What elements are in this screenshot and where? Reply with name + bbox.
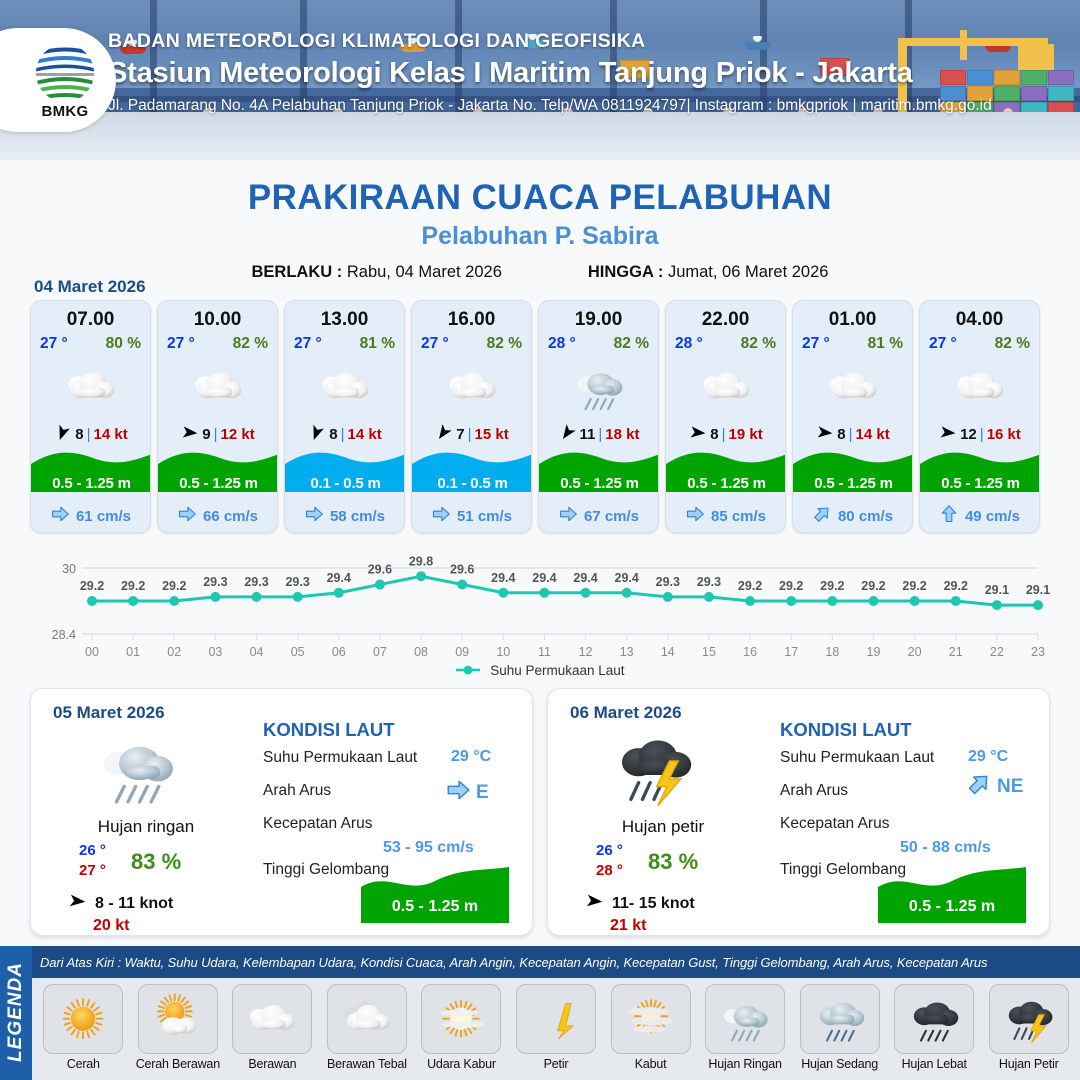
chart-legend-marker-icon bbox=[455, 664, 481, 679]
card-wave-height: 0.5 - 1.25 m bbox=[666, 475, 786, 492]
card-air-temperature: 28 ° bbox=[548, 335, 576, 353]
legend-item-icon bbox=[800, 984, 880, 1054]
card-air-temperature: 27 ° bbox=[421, 335, 449, 353]
wind-separator: | bbox=[980, 426, 984, 443]
panel-current-dir-value: NE bbox=[997, 776, 1023, 798]
card-wind-row: 7 | 15 kt bbox=[412, 418, 531, 450]
svg-text:20: 20 bbox=[908, 645, 922, 659]
header-text-block: BADAN METEOROLOGI KLIMATOLOGI DAN GEOFIS… bbox=[108, 30, 1068, 115]
bmkg-logo-text: BMKG bbox=[26, 103, 104, 120]
page-title: PRAKIRAAN CUACA PELABUHAN bbox=[0, 178, 1080, 218]
card-temp-humidity-row: 28 ° 82 % bbox=[539, 331, 658, 353]
panel-weather-icon bbox=[91, 725, 183, 815]
card-current-row: 51 cm/s bbox=[412, 500, 531, 532]
legend-item-icon bbox=[705, 984, 785, 1054]
legend-item: Petir bbox=[511, 984, 602, 1071]
legend-item-icon bbox=[421, 984, 501, 1054]
panel-sst-label: Suhu Permukaan Laut bbox=[780, 749, 934, 767]
card-wave-band: 0.5 - 1.25 m bbox=[666, 448, 785, 500]
forecast-card: 13.00 27 ° 81 % 8 | 14 kt bbox=[284, 300, 405, 533]
legend-item-label: Hujan Sedang bbox=[794, 1057, 885, 1071]
wave-shape-icon bbox=[285, 448, 405, 500]
card-air-temperature: 27 ° bbox=[40, 335, 68, 353]
wave-shape-icon bbox=[666, 448, 786, 500]
card-temp-humidity-row: 27 ° 81 % bbox=[793, 331, 912, 353]
card-current-speed: 61 cm/s bbox=[76, 508, 131, 525]
svg-text:29.6: 29.6 bbox=[450, 563, 474, 577]
card-gust-speed: 12 kt bbox=[221, 426, 255, 443]
legend-item-icon bbox=[611, 984, 691, 1054]
wind-direction-arrow-icon bbox=[307, 423, 326, 446]
card-current-speed: 85 cm/s bbox=[711, 508, 766, 525]
valid-until: HINGGA : Jumat, 06 Maret 2026 bbox=[588, 263, 829, 282]
panel-wave-band: 0.5 - 1.25 m bbox=[361, 865, 509, 927]
panel-condition: Hujan petir bbox=[548, 817, 778, 837]
station-name: Stasiun Meteorologi Kelas I Maritim Tanj… bbox=[108, 57, 1068, 90]
legend-item: Udara Kabur bbox=[416, 984, 507, 1071]
card-current-speed: 58 cm/s bbox=[330, 508, 385, 525]
panel-current-dir-value: E bbox=[476, 782, 489, 804]
svg-text:22: 22 bbox=[990, 645, 1004, 659]
card-wave-height: 0.5 - 1.25 m bbox=[31, 475, 151, 492]
card-wind-row: 12 | 16 kt bbox=[920, 418, 1039, 450]
svg-text:13: 13 bbox=[620, 645, 634, 659]
valid-until-value: Jumat, 06 Maret 2026 bbox=[668, 263, 829, 281]
svg-text:30: 30 bbox=[62, 562, 76, 576]
legend-item-label: Udara Kabur bbox=[416, 1057, 507, 1071]
svg-text:28.4: 28.4 bbox=[52, 628, 76, 642]
card-wind-speed: 7 bbox=[456, 426, 464, 443]
card-weather-icon bbox=[920, 356, 1039, 418]
forecast-day-label: 04 Maret 2026 bbox=[34, 277, 146, 297]
svg-text:29.2: 29.2 bbox=[121, 579, 145, 593]
svg-text:15: 15 bbox=[702, 645, 716, 659]
wind-direction-arrow-icon bbox=[688, 423, 707, 446]
title-block: PRAKIRAAN CUACA PELABUHAN Pelabuhan P. S… bbox=[0, 178, 1080, 282]
panel-humidity: 83 % bbox=[131, 849, 181, 875]
panel-gust-speed: 20 kt bbox=[93, 917, 129, 935]
svg-text:06: 06 bbox=[332, 645, 346, 659]
svg-text:29.3: 29.3 bbox=[203, 575, 227, 589]
wind-direction-arrow-icon bbox=[180, 423, 199, 446]
agency-name: BADAN METEOROLOGI KLIMATOLOGI DAN GEOFIS… bbox=[108, 30, 1068, 53]
card-time: 16.00 bbox=[412, 301, 531, 331]
panel-wave-shape-icon bbox=[361, 865, 509, 927]
current-direction-arrow-icon bbox=[558, 504, 578, 528]
svg-text:11: 11 bbox=[538, 645, 551, 659]
svg-text:29.2: 29.2 bbox=[944, 579, 968, 593]
panel-sst-value: 29 °C bbox=[451, 748, 491, 766]
svg-text:29.2: 29.2 bbox=[820, 579, 844, 593]
panel-temp-min: 26 ° bbox=[79, 841, 106, 861]
panel-wind-row: 8 - 11 knot bbox=[67, 891, 173, 916]
svg-text:01: 01 bbox=[126, 645, 140, 659]
card-wave-height: 0.5 - 1.25 m bbox=[793, 475, 913, 492]
forecast-card: 07.00 27 ° 80 % 8 | 14 kt bbox=[30, 300, 151, 533]
legend-item: Hujan Ringan bbox=[700, 984, 791, 1071]
card-humidity: 81 % bbox=[868, 335, 903, 353]
current-direction-arrow-icon bbox=[812, 504, 832, 528]
card-wind-speed: 8 bbox=[710, 426, 718, 443]
panel-wave-band: 0.5 - 1.25 m bbox=[878, 865, 1026, 927]
card-wave-height: 0.5 - 1.25 m bbox=[158, 475, 278, 492]
station-address: Jl. Padamarang No. 4A Pelabuhan Tanjung … bbox=[108, 97, 1068, 115]
forecast-card: 04.00 27 ° 82 % 12 | 16 kt bbox=[919, 300, 1040, 533]
current-direction-arrow-icon bbox=[685, 504, 705, 528]
valid-from-label: BERLAKU : bbox=[252, 263, 343, 281]
card-current-row: 61 cm/s bbox=[31, 500, 150, 532]
legend-item-icon bbox=[516, 984, 596, 1054]
card-current-row: 67 cm/s bbox=[539, 500, 658, 532]
current-direction-arrow-icon bbox=[939, 504, 959, 528]
panel-wind-speed: 8 - 11 knot bbox=[95, 895, 173, 913]
svg-text:23: 23 bbox=[1031, 645, 1045, 659]
panel-wave-value: 0.5 - 1.25 m bbox=[361, 898, 509, 916]
card-temp-humidity-row: 28 ° 82 % bbox=[666, 331, 785, 353]
card-wave-band: 0.5 - 1.25 m bbox=[158, 448, 277, 500]
panel-current-direction-arrow-icon bbox=[445, 777, 471, 808]
svg-text:18: 18 bbox=[825, 645, 839, 659]
legend-item: Cerah Berawan bbox=[133, 984, 224, 1071]
svg-text:09: 09 bbox=[455, 645, 469, 659]
wind-separator: | bbox=[468, 426, 472, 443]
legend-section: LEGENDA Dari Atas Kiri : Waktu, Suhu Uda… bbox=[0, 946, 1080, 1080]
panel-humidity: 83 % bbox=[648, 849, 698, 875]
svg-text:05: 05 bbox=[291, 645, 305, 659]
legend-item: Hujan Sedang bbox=[794, 984, 885, 1071]
card-temp-humidity-row: 27 ° 82 % bbox=[158, 331, 277, 353]
chart-legend-label: Suhu Permukaan Laut bbox=[490, 663, 624, 678]
panel-wind-direction-arrow-icon bbox=[584, 891, 604, 916]
panel-temperature-range: 26 ° 27 ° bbox=[79, 841, 106, 882]
wind-direction-arrow-icon bbox=[53, 423, 72, 446]
svg-text:21: 21 bbox=[949, 645, 963, 659]
legend-item-label: Cerah Berawan bbox=[133, 1057, 224, 1071]
forecast-card: 16.00 27 ° 82 % 7 | 15 kt bbox=[411, 300, 532, 533]
card-current-row: 58 cm/s bbox=[285, 500, 404, 532]
forecast-card: 10.00 27 ° 82 % 9 | 12 kt bbox=[157, 300, 278, 533]
panel-current-dir-value-group: E bbox=[445, 777, 489, 808]
svg-text:29.6: 29.6 bbox=[368, 563, 392, 577]
card-time: 22.00 bbox=[666, 301, 785, 331]
panel-current-dir-label: Arah Arus bbox=[263, 782, 331, 800]
card-weather-icon bbox=[666, 356, 785, 418]
legend-item-label: Hujan Lebat bbox=[889, 1057, 980, 1071]
legend-item-label: Berawan bbox=[227, 1057, 318, 1071]
page-header: BMKG BADAN METEOROLOGI KLIMATOLOGI DAN G… bbox=[0, 0, 1080, 160]
card-wind-speed: 12 bbox=[960, 426, 977, 443]
card-wind-row: 8 | 14 kt bbox=[31, 418, 150, 450]
page-subtitle: Pelabuhan P. Sabira bbox=[0, 222, 1080, 251]
svg-text:16: 16 bbox=[743, 645, 757, 659]
wind-separator: | bbox=[722, 426, 726, 443]
panel-current-direction-arrow-icon bbox=[966, 771, 992, 802]
wave-shape-icon bbox=[31, 448, 151, 500]
card-humidity: 81 % bbox=[360, 335, 395, 353]
forecast-card-list: 07.00 27 ° 80 % 8 | 14 kt bbox=[30, 300, 1050, 533]
card-air-temperature: 27 ° bbox=[167, 335, 195, 353]
wind-direction-arrow-icon bbox=[434, 423, 453, 446]
card-temp-humidity-row: 27 ° 81 % bbox=[285, 331, 404, 353]
panel-date: 06 Maret 2026 bbox=[570, 703, 682, 723]
card-time: 07.00 bbox=[31, 301, 150, 331]
legend-item-label: Berawan Tebal bbox=[322, 1057, 413, 1071]
panel-sea-title: KONDISI LAUT bbox=[780, 719, 912, 741]
daily-forecast-panel: 06 Maret 2026 Hujan petir 26 ° 28 ° 83 %… bbox=[547, 688, 1050, 936]
legend-item-icon bbox=[327, 984, 407, 1054]
card-weather-icon bbox=[31, 356, 150, 418]
card-temp-humidity-row: 27 ° 82 % bbox=[920, 331, 1039, 353]
card-current-speed: 66 cm/s bbox=[203, 508, 258, 525]
legend-item-list: Cerah Cerah Berawan Berawan bbox=[38, 984, 1074, 1071]
card-wind-speed: 8 bbox=[75, 426, 83, 443]
legend-side-label: LEGENDA bbox=[5, 945, 27, 1079]
wind-separator: | bbox=[214, 426, 218, 443]
legend-item: Kabut bbox=[605, 984, 696, 1071]
card-wave-band: 0.5 - 1.25 m bbox=[793, 448, 912, 500]
legend-item: Berawan bbox=[227, 984, 318, 1071]
card-wind-row: 8 | 19 kt bbox=[666, 418, 785, 450]
bmkg-logo: BMKG bbox=[0, 28, 116, 132]
card-weather-icon bbox=[158, 356, 277, 418]
panel-temperature-range: 26 ° 28 ° bbox=[596, 841, 623, 882]
card-gust-speed: 14 kt bbox=[94, 426, 128, 443]
card-current-speed: 49 cm/s bbox=[965, 508, 1020, 525]
forecast-card: 19.00 28 ° 82 % 11 | 18 kt bbox=[538, 300, 659, 533]
card-time: 01.00 bbox=[793, 301, 912, 331]
card-temp-humidity-row: 27 ° 82 % bbox=[412, 331, 531, 353]
panel-current-speed-label: Kecepatan Arus bbox=[780, 815, 889, 833]
card-air-temperature: 27 ° bbox=[929, 335, 957, 353]
svg-text:00: 00 bbox=[85, 645, 99, 659]
card-gust-speed: 16 kt bbox=[987, 426, 1021, 443]
card-air-temperature: 28 ° bbox=[675, 335, 703, 353]
svg-text:02: 02 bbox=[167, 645, 181, 659]
forecast-card: 01.00 27 ° 81 % 8 | 14 kt bbox=[792, 300, 913, 533]
panel-current-speed-value: 53 - 95 cm/s bbox=[383, 839, 474, 857]
panel-current-speed-value: 50 - 88 cm/s bbox=[900, 839, 991, 857]
wave-shape-icon bbox=[412, 448, 532, 500]
card-wind-row: 9 | 12 kt bbox=[158, 418, 277, 450]
sst-chart-svg: 3028.40001020304050607080910111213141516… bbox=[30, 556, 1050, 666]
card-wave-height: 0.1 - 0.5 m bbox=[285, 475, 405, 492]
svg-text:19: 19 bbox=[867, 645, 881, 659]
wind-direction-arrow-icon bbox=[558, 423, 577, 446]
wave-shape-icon bbox=[920, 448, 1040, 500]
current-direction-arrow-icon bbox=[304, 504, 324, 528]
bmkg-logo-mark: BMKG bbox=[26, 40, 104, 120]
validity-row: BERLAKU : Rabu, 04 Maret 2026 HINGGA : J… bbox=[0, 263, 1080, 282]
wind-direction-arrow-icon bbox=[815, 423, 834, 446]
svg-text:29.2: 29.2 bbox=[80, 579, 104, 593]
svg-text:29.3: 29.3 bbox=[656, 575, 680, 589]
card-wind-speed: 9 bbox=[202, 426, 210, 443]
legend-item-icon bbox=[232, 984, 312, 1054]
wind-separator: | bbox=[87, 426, 91, 443]
panel-wave-shape-icon bbox=[878, 865, 1026, 927]
valid-from: BERLAKU : Rabu, 04 Maret 2026 bbox=[252, 263, 502, 282]
panel-wind-row: 11- 15 knot bbox=[584, 891, 695, 916]
card-current-row: 66 cm/s bbox=[158, 500, 277, 532]
legend-item-label: Petir bbox=[511, 1057, 602, 1071]
legend-item-icon bbox=[43, 984, 123, 1054]
panel-current-dir-value-group: NE bbox=[966, 771, 1023, 802]
svg-text:29.4: 29.4 bbox=[615, 571, 639, 585]
card-wind-row: 8 | 14 kt bbox=[285, 418, 404, 450]
svg-text:17: 17 bbox=[784, 645, 798, 659]
wind-separator: | bbox=[341, 426, 345, 443]
panel-temp-max: 28 ° bbox=[596, 861, 623, 881]
svg-text:14: 14 bbox=[661, 645, 675, 659]
legend-side-bar: LEGENDA bbox=[0, 946, 32, 1080]
card-wind-speed: 8 bbox=[837, 426, 845, 443]
svg-text:29.3: 29.3 bbox=[244, 575, 268, 589]
wave-shape-icon bbox=[539, 448, 659, 500]
panel-sst-value: 29 °C bbox=[968, 748, 1008, 766]
card-wave-band: 0.5 - 1.25 m bbox=[31, 448, 150, 500]
svg-text:03: 03 bbox=[208, 645, 222, 659]
card-humidity: 82 % bbox=[487, 335, 522, 353]
wind-direction-arrow-icon bbox=[938, 423, 957, 446]
svg-text:07: 07 bbox=[373, 645, 387, 659]
card-humidity: 82 % bbox=[233, 335, 268, 353]
legend-item: Cerah bbox=[38, 984, 129, 1071]
card-wave-height: 0.5 - 1.25 m bbox=[920, 475, 1040, 492]
header-terminal-floor bbox=[0, 112, 1080, 160]
card-humidity: 82 % bbox=[995, 335, 1030, 353]
card-weather-icon bbox=[412, 356, 531, 418]
wave-shape-icon bbox=[158, 448, 278, 500]
legend-item-icon bbox=[894, 984, 974, 1054]
wave-shape-icon bbox=[793, 448, 913, 500]
card-weather-icon bbox=[793, 356, 912, 418]
svg-text:29.1: 29.1 bbox=[1026, 583, 1050, 597]
legend-item-label: Hujan Ringan bbox=[700, 1057, 791, 1071]
legend-item: Berawan Tebal bbox=[322, 984, 413, 1071]
card-current-speed: 80 cm/s bbox=[838, 508, 893, 525]
card-wave-band: 0.5 - 1.25 m bbox=[539, 448, 658, 500]
card-current-speed: 51 cm/s bbox=[457, 508, 512, 525]
card-gust-speed: 18 kt bbox=[605, 426, 639, 443]
sst-chart: 3028.40001020304050607080910111213141516… bbox=[30, 556, 1050, 666]
card-gust-speed: 14 kt bbox=[348, 426, 382, 443]
panel-current-dir-label: Arah Arus bbox=[780, 782, 848, 800]
wind-separator: | bbox=[849, 426, 853, 443]
infographic-page: BMKG BADAN METEOROLOGI KLIMATOLOGI DAN G… bbox=[0, 0, 1080, 1080]
card-wind-row: 11 | 18 kt bbox=[539, 418, 658, 450]
legend-item-label: Hujan Petir bbox=[983, 1057, 1074, 1071]
legend-item: Hujan Petir bbox=[983, 984, 1074, 1071]
card-time: 04.00 bbox=[920, 301, 1039, 331]
card-wind-speed: 8 bbox=[329, 426, 337, 443]
card-air-temperature: 27 ° bbox=[294, 335, 322, 353]
wind-separator: | bbox=[598, 426, 602, 443]
panel-weather-icon bbox=[608, 725, 700, 815]
card-gust-speed: 15 kt bbox=[475, 426, 509, 443]
panel-temp-min: 26 ° bbox=[596, 841, 623, 861]
svg-text:29.2: 29.2 bbox=[902, 579, 926, 593]
svg-text:29.2: 29.2 bbox=[779, 579, 803, 593]
card-wave-band: 0.1 - 0.5 m bbox=[412, 448, 531, 500]
card-humidity: 82 % bbox=[741, 335, 776, 353]
svg-text:29.2: 29.2 bbox=[162, 579, 186, 593]
card-wave-height: 0.1 - 0.5 m bbox=[412, 475, 532, 492]
card-temp-humidity-row: 27 ° 80 % bbox=[31, 331, 150, 353]
panel-gust-speed: 21 kt bbox=[610, 917, 646, 935]
card-gust-speed: 14 kt bbox=[856, 426, 890, 443]
card-time: 13.00 bbox=[285, 301, 404, 331]
legend-item-icon bbox=[989, 984, 1069, 1054]
panel-wind-speed: 11- 15 knot bbox=[612, 895, 695, 913]
svg-text:29.1: 29.1 bbox=[985, 583, 1009, 597]
current-direction-arrow-icon bbox=[50, 504, 70, 528]
card-time: 10.00 bbox=[158, 301, 277, 331]
current-direction-arrow-icon bbox=[177, 504, 197, 528]
daily-forecast-panels: 05 Maret 2026 Hujan ringan 26 ° 27 ° 83 … bbox=[30, 688, 1050, 936]
card-humidity: 82 % bbox=[614, 335, 649, 353]
card-weather-icon bbox=[539, 356, 658, 418]
valid-until-label: HINGGA : bbox=[588, 263, 663, 281]
valid-from-value: Rabu, 04 Maret 2026 bbox=[347, 263, 502, 281]
card-air-temperature: 27 ° bbox=[802, 335, 830, 353]
svg-text:29.4: 29.4 bbox=[532, 571, 556, 585]
svg-text:29.4: 29.4 bbox=[327, 571, 351, 585]
legend-item-icon bbox=[138, 984, 218, 1054]
card-wave-band: 0.1 - 0.5 m bbox=[285, 448, 404, 500]
svg-text:29.2: 29.2 bbox=[861, 579, 885, 593]
svg-text:10: 10 bbox=[496, 645, 510, 659]
card-gust-speed: 19 kt bbox=[729, 426, 763, 443]
panel-wind-direction-arrow-icon bbox=[67, 891, 87, 916]
svg-text:29.4: 29.4 bbox=[573, 571, 597, 585]
panel-sst-label: Suhu Permukaan Laut bbox=[263, 749, 417, 767]
legend-item-label: Kabut bbox=[605, 1057, 696, 1071]
daily-forecast-panel: 05 Maret 2026 Hujan ringan 26 ° 27 ° 83 … bbox=[30, 688, 533, 936]
current-direction-arrow-icon bbox=[431, 504, 451, 528]
svg-text:29.3: 29.3 bbox=[697, 575, 721, 589]
forecast-card: 22.00 28 ° 82 % 8 | 19 kt bbox=[665, 300, 786, 533]
card-current-row: 85 cm/s bbox=[666, 500, 785, 532]
card-wave-band: 0.5 - 1.25 m bbox=[920, 448, 1039, 500]
panel-date: 05 Maret 2026 bbox=[53, 703, 165, 723]
panel-current-speed-label: Kecepatan Arus bbox=[263, 815, 372, 833]
svg-text:29.3: 29.3 bbox=[285, 575, 309, 589]
legend-note: Dari Atas Kiri : Waktu, Suhu Udara, Kele… bbox=[32, 946, 1080, 978]
card-wind-row: 8 | 14 kt bbox=[793, 418, 912, 450]
svg-text:08: 08 bbox=[414, 645, 428, 659]
svg-text:29.2: 29.2 bbox=[738, 579, 762, 593]
card-time: 19.00 bbox=[539, 301, 658, 331]
chart-legend: Suhu Permukaan Laut bbox=[0, 663, 1080, 679]
svg-text:12: 12 bbox=[579, 645, 593, 659]
card-wind-speed: 11 bbox=[580, 426, 596, 443]
panel-wave-value: 0.5 - 1.25 m bbox=[878, 898, 1026, 916]
svg-text:04: 04 bbox=[250, 645, 264, 659]
legend-item: Hujan Lebat bbox=[889, 984, 980, 1071]
card-humidity: 80 % bbox=[106, 335, 141, 353]
svg-text:29.8: 29.8 bbox=[409, 556, 433, 568]
card-current-row: 80 cm/s bbox=[793, 500, 912, 532]
panel-condition: Hujan ringan bbox=[31, 817, 261, 837]
card-current-row: 49 cm/s bbox=[920, 500, 1039, 532]
legend-item-label: Cerah bbox=[38, 1057, 129, 1071]
panel-sea-title: KONDISI LAUT bbox=[263, 719, 395, 741]
panel-temp-max: 27 ° bbox=[79, 861, 106, 881]
svg-text:29.4: 29.4 bbox=[491, 571, 515, 585]
card-weather-icon bbox=[285, 356, 404, 418]
card-wave-height: 0.5 - 1.25 m bbox=[539, 475, 659, 492]
card-current-speed: 67 cm/s bbox=[584, 508, 639, 525]
